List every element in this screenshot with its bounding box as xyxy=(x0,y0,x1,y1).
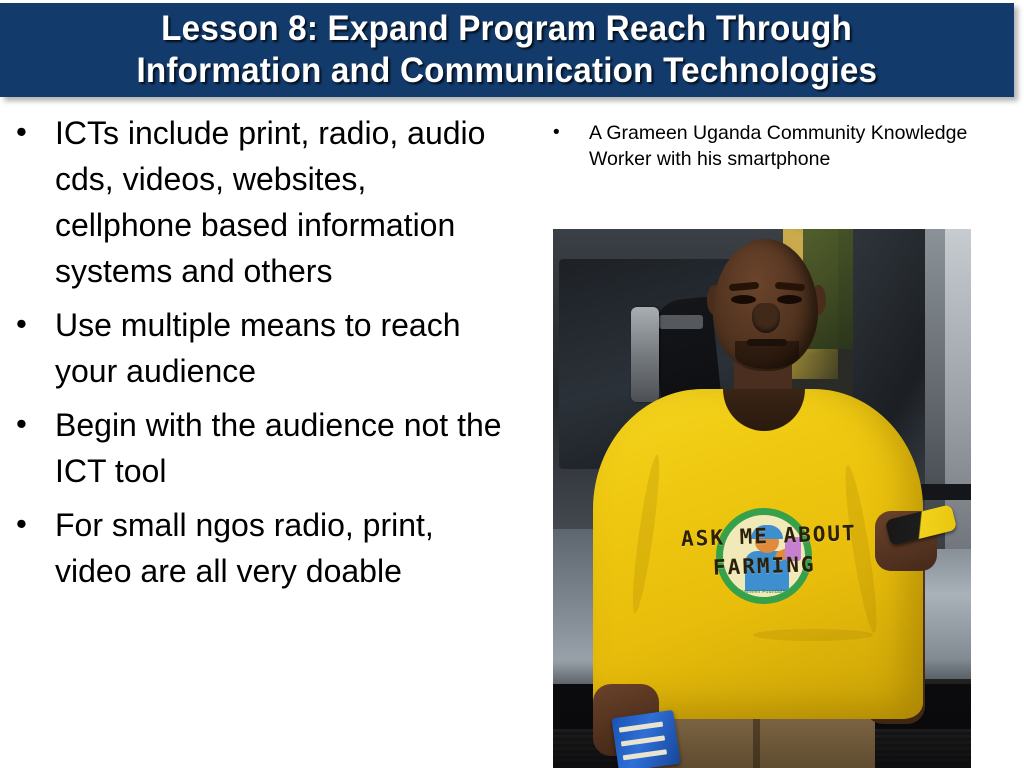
left-bullet-list: ICTs include print, radio, audio cds, vi… xyxy=(8,110,508,594)
person-figure: Grameen Foundation ASK ME ABOUT FARMING xyxy=(553,229,971,768)
tshirt-fold xyxy=(753,629,873,641)
list-item: Begin with the audience not the ICT tool xyxy=(8,402,508,494)
list-item: Use multiple means to reach your audienc… xyxy=(8,302,508,394)
photo-caption-item: A Grameen Uganda Community Knowledge Wor… xyxy=(545,120,1015,172)
blue-booklet xyxy=(612,710,681,768)
right-content-column: A Grameen Uganda Community Knowledge Wor… xyxy=(545,120,1015,172)
person-nose xyxy=(752,303,780,333)
page-title-line-1: Lesson 8: Expand Program Reach Through xyxy=(162,8,853,50)
photo-scene: Grameen Foundation ASK ME ABOUT FARMING xyxy=(553,229,971,768)
slide-canvas: Lesson 8: Expand Program Reach Through I… xyxy=(0,0,1024,768)
list-item: ICTs include print, radio, audio cds, vi… xyxy=(8,110,508,294)
booklet-line xyxy=(621,735,665,746)
logo-ring-text: Grameen Foundation xyxy=(723,589,805,595)
list-item: For small ngos radio, print, video are a… xyxy=(8,502,508,594)
left-content-column: ICTs include print, radio, audio cds, vi… xyxy=(8,110,508,602)
booklet-line xyxy=(623,749,667,760)
person-eye-right xyxy=(777,295,802,304)
person-mouth xyxy=(747,339,787,346)
photo-caption-list: A Grameen Uganda Community Knowledge Wor… xyxy=(545,120,1015,172)
photo-grameen-knowledge-worker: Grameen Foundation ASK ME ABOUT FARMING xyxy=(553,229,971,768)
person-eye-left xyxy=(731,295,756,304)
page-title-line-2: Information and Communication Technologi… xyxy=(137,50,878,92)
tshirt-text-line-2: FARMING xyxy=(713,552,816,580)
booklet-line xyxy=(619,722,663,733)
slide-title-banner: Lesson 8: Expand Program Reach Through I… xyxy=(0,3,1014,97)
